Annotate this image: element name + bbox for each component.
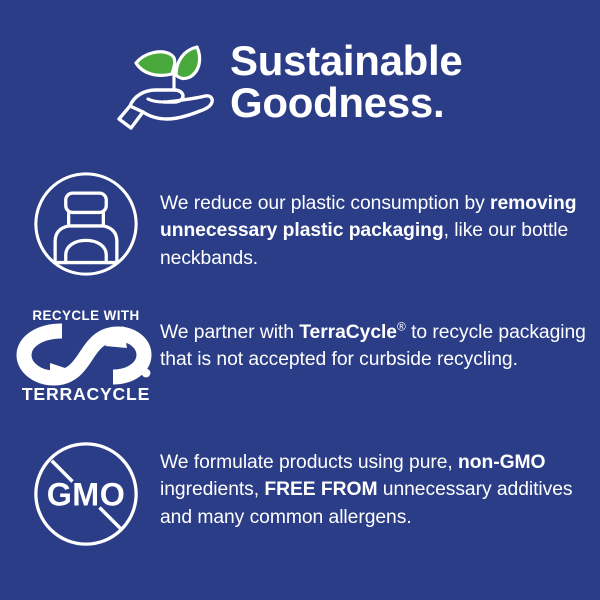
- feature-row-gmo: GMO We formulate products using pure, no…: [0, 440, 600, 548]
- bottle-neckband-circle-icon: [0, 170, 160, 278]
- gmo-label: GMO: [47, 477, 126, 513]
- recycle-infinity-loop-icon: [19, 325, 153, 383]
- terracycle-top-label: RECYCLE WITH: [32, 308, 139, 323]
- hand-holding-sprout-icon: [112, 32, 216, 132]
- sustainable-goodness-poster: Sustainable Goodness. We reduce our plas…: [0, 0, 600, 600]
- feature-text-terracycle: We partner with TerraCycle® to recycle p…: [160, 308, 600, 374]
- feature-text-plastic: We reduce our plastic consumption by rem…: [160, 170, 600, 272]
- poster-header: Sustainable Goodness.: [0, 24, 600, 139]
- feature-row-terracycle: RECYCLE WITH TERRACYCLE We partner with …: [0, 308, 600, 405]
- no-gmo-circle-icon: GMO: [0, 440, 160, 548]
- feature-row-plastic: We reduce our plastic consumption by rem…: [0, 170, 600, 278]
- terracycle-logo: RECYCLE WITH TERRACYCLE: [0, 308, 160, 405]
- feature-text-gmo: We formulate products using pure, non-GM…: [160, 440, 600, 531]
- page-title: Sustainable Goodness.: [230, 40, 462, 122]
- terracycle-bottom-label: TERRACYCLE: [22, 384, 150, 405]
